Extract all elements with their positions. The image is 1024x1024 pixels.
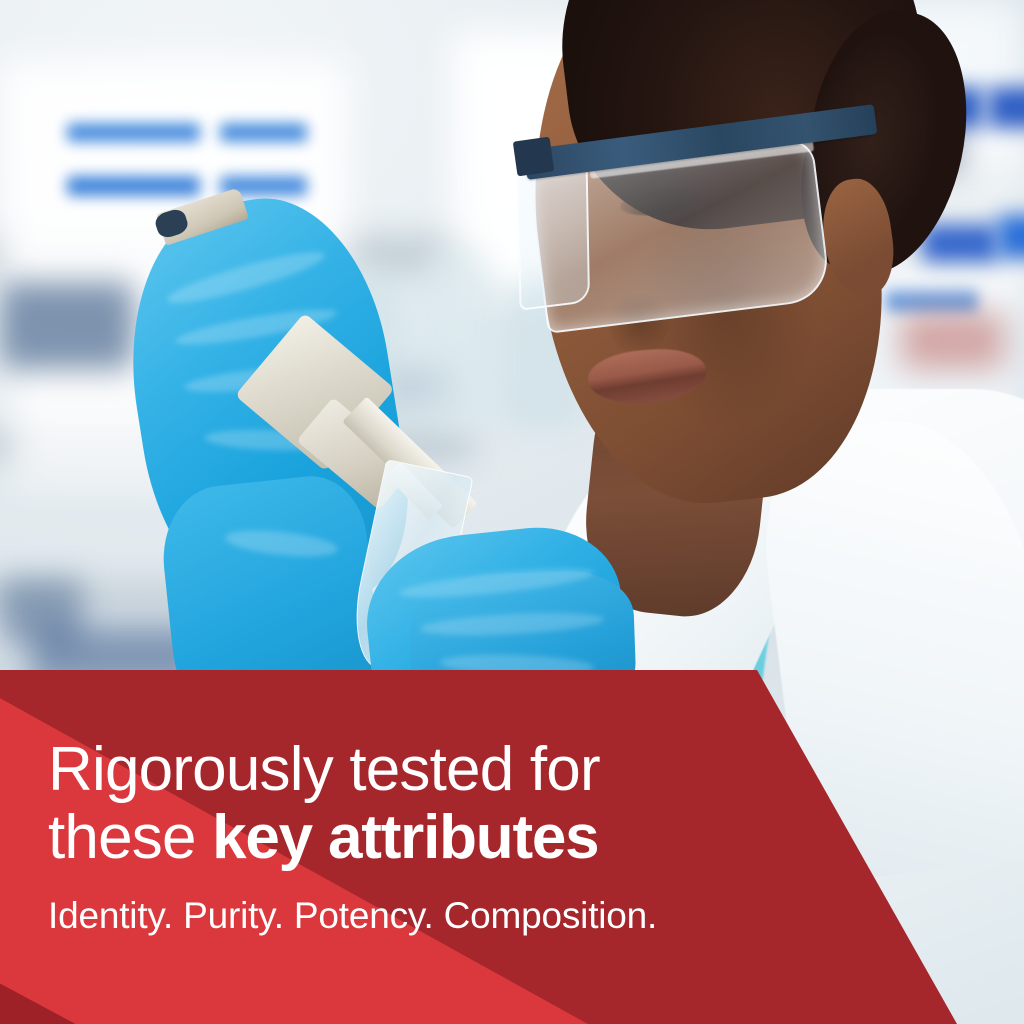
blue-glove-cuff bbox=[156, 471, 386, 747]
scientist-figure bbox=[0, 0, 1024, 1024]
safety-glasses-hinge bbox=[513, 137, 554, 177]
lab-photo bbox=[0, 0, 1024, 1024]
promo-image: Rigorously tested for these key attribut… bbox=[0, 0, 1024, 1024]
